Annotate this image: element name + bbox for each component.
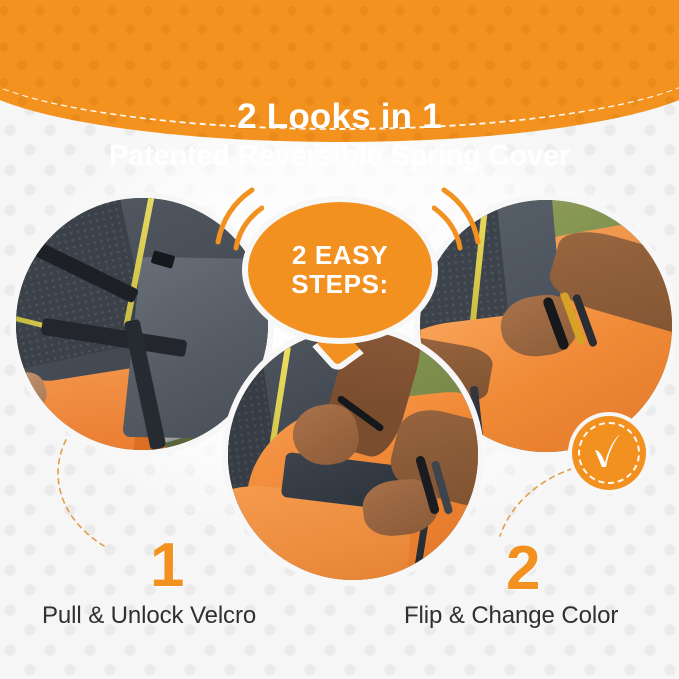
header-text-block: 2 Looks in 1 Patented Reversible Spring … [0, 98, 679, 174]
check-icon [593, 433, 621, 469]
page-title: 2 Looks in 1 [0, 98, 679, 136]
step-caption-2: Flip & Change Color [404, 602, 618, 630]
page-subtitle: Patented Reversible Spring Cover [0, 139, 679, 174]
infographic-page: 2 Looks in 1 Patented Reversible Spring … [0, 0, 679, 679]
step-caption-1: Pull & Unlock Velcro [42, 602, 256, 630]
speech-bubble: 2 EASY STEPS: [242, 196, 438, 344]
speech-bubble-line-2: STEPS: [291, 270, 389, 299]
photo-step-two [228, 330, 478, 580]
status-badge [572, 416, 646, 490]
photo-step-two-scene [228, 330, 478, 580]
step-number-1: 1 [150, 535, 184, 597]
speech-bubble-line-1: 2 EASY [292, 241, 388, 270]
step-number-2: 2 [506, 538, 540, 600]
speech-bubble-text: 2 EASY STEPS: [242, 196, 438, 344]
